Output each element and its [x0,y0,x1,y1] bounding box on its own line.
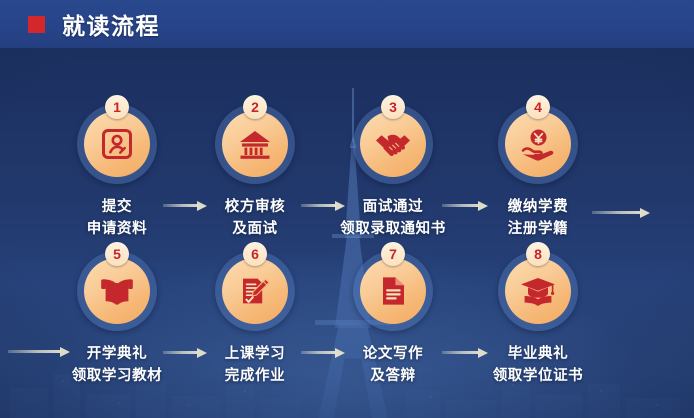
step-7-circle: 7 [353,251,433,331]
step-6-number-badge: 6 [243,242,267,266]
arrow-3-to-4 [442,199,488,211]
arrow-4-to-next [592,206,650,218]
hand-yuan-payment-icon [520,127,556,161]
step-2-circle: 2 [215,104,295,184]
arrow-prev-to-5 [8,345,70,357]
id-card-person-icon [100,127,134,161]
step-4-disc [505,111,571,177]
arrow-1-to-2 [163,199,207,211]
arrow-5-to-6 [163,346,207,358]
step-7-label-line2: 及答辩 [318,365,468,387]
step-1-label-line2: 申请资料 [42,218,192,240]
step-3-number-badge: 3 [381,95,405,119]
step-8-number-badge: 8 [526,242,550,266]
flow-step-1[interactable]: 1 提交 申请资料 [42,104,192,240]
step-2-number-badge: 2 [243,95,267,119]
step-8-label-line2: 领取学位证书 [463,365,613,387]
step-8-circle: 8 [498,251,578,331]
step-5-disc [84,258,150,324]
document-pencil-icon [238,274,272,308]
step-6-disc [222,258,288,324]
step-6-circle: 6 [215,251,295,331]
step-5-label-line2: 领取学习教材 [42,365,192,387]
open-book-icon [99,275,135,307]
step-2-label-line2: 及面试 [180,218,330,240]
arrow-2-to-3 [301,199,345,211]
flow-step-5[interactable]: 5 开学典礼 领取学习教材 [42,251,192,387]
paper-document-icon [377,274,409,308]
red-square-marker-icon [28,16,45,33]
arrow-7-to-8 [442,346,488,358]
step-8-disc [505,258,571,324]
step-2-disc [222,111,288,177]
step-3-disc [360,111,426,177]
step-3-label-line2: 领取录取通知书 [318,218,468,240]
step-4-label-line2: 注册学籍 [463,218,613,240]
step-7-number-badge: 7 [381,242,405,266]
flow-step-2[interactable]: 2 校方审核 及面试 [180,104,330,240]
flow-step-7[interactable]: 7 论文写作 及答辩 [318,251,468,387]
step-3-circle: 3 [353,104,433,184]
page-title: 就读流程 [62,7,160,41]
flow-step-6[interactable]: 6 上课学习 完成作业 [180,251,330,387]
flow-step-4[interactable]: 4 缴纳学费 注册学籍 [463,104,613,240]
step-5-circle: 5 [77,251,157,331]
step-1-disc [84,111,150,177]
page-header: 就读流程 [0,0,694,48]
school-building-icon [238,127,272,161]
flow-step-8[interactable]: 8 毕业典礼 领取学位证书 [463,251,613,387]
flow-step-3[interactable]: 3 面试通过 领取录取通知书 [318,104,468,240]
arrow-6-to-7 [301,346,345,358]
step-5-number-badge: 5 [105,242,129,266]
step-1-circle: 1 [77,104,157,184]
step-7-disc [360,258,426,324]
handshake-icon [375,129,411,159]
step-6-label-line2: 完成作业 [180,365,330,387]
graduation-cap-book-icon [519,275,557,307]
step-4-number-badge: 4 [526,95,550,119]
step-1-number-badge: 1 [105,95,129,119]
step-4-circle: 4 [498,104,578,184]
flow-diagram: 1 提交 申请资料 [0,48,694,418]
slide-root: 就读流程 [0,0,694,418]
